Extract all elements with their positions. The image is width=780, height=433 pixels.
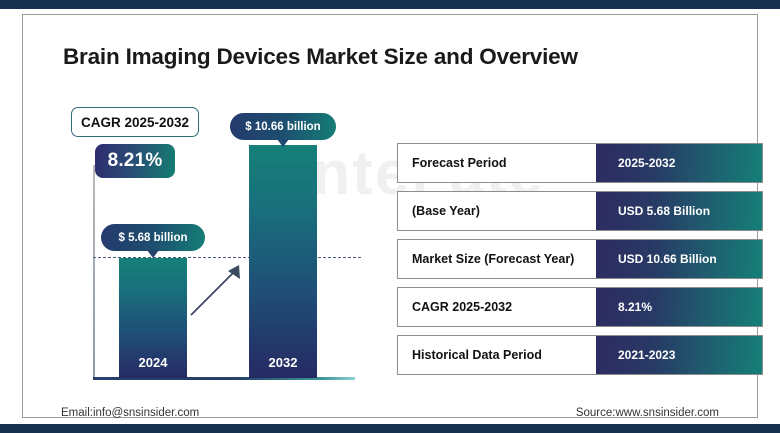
footer-source: Source:www.snsinsider.com xyxy=(576,407,719,419)
table-row-value: 2021-2023 xyxy=(596,336,762,374)
bar-category-label-2024: 2024 xyxy=(119,355,187,370)
chart-y-axis xyxy=(93,165,95,378)
table-row: Forecast Period 2025-2032 xyxy=(397,143,763,183)
footer-email: Email:info@snsinsider.com xyxy=(61,407,199,419)
bar-value-label-2032: $ 10.66 billion xyxy=(245,121,320,133)
top-accent-bar xyxy=(0,0,780,9)
bar-value-pill-2024: $ 5.68 billion xyxy=(101,224,205,251)
table-row: Market Size (Forecast Year) USD 10.66 Bi… xyxy=(397,239,763,279)
cagr-label-box: CAGR 2025-2032 xyxy=(71,107,199,137)
infographic-canvas: Intel ate Brain Imaging Devices Market S… xyxy=(0,0,780,433)
table-row-label: (Base Year) xyxy=(398,192,596,230)
bar-value-pill-2032: $ 10.66 billion xyxy=(230,113,336,140)
table-row-value: 2025-2032 xyxy=(596,144,762,182)
bar-value-label-2024: $ 5.68 billion xyxy=(118,232,187,244)
summary-table: Forecast Period 2025-2032 (Base Year) US… xyxy=(397,143,763,375)
table-row-label: Market Size (Forecast Year) xyxy=(398,240,596,278)
table-row: CAGR 2025-2032 8.21% xyxy=(397,287,763,327)
table-row-label: Historical Data Period xyxy=(398,336,596,374)
table-row-label: Forecast Period xyxy=(398,144,596,182)
cagr-value-text: 8.21% xyxy=(108,150,163,172)
content-frame: Intel ate Brain Imaging Devices Market S… xyxy=(22,14,758,418)
table-row: Historical Data Period 2021-2023 xyxy=(397,335,763,375)
cagr-label-text: CAGR 2025-2032 xyxy=(81,115,189,130)
bar-chart: $ 5.68 billion $ 10.66 billion 2024 2032 xyxy=(23,15,423,419)
bar-2032: 2032 xyxy=(249,145,317,378)
table-row-label: CAGR 2025-2032 xyxy=(398,288,596,326)
bottom-accent-bar xyxy=(0,424,780,433)
bar-category-label-2032: 2032 xyxy=(249,355,317,370)
table-row-value: USD 10.66 Billion xyxy=(596,240,762,278)
table-row-value: 8.21% xyxy=(596,288,762,326)
cagr-value-pill: 8.21% xyxy=(95,144,175,178)
bar-2024: 2024 xyxy=(119,258,187,378)
growth-arrow-icon xyxy=(183,255,253,325)
table-row-value: USD 5.68 Billion xyxy=(596,192,762,230)
table-row: (Base Year) USD 5.68 Billion xyxy=(397,191,763,231)
